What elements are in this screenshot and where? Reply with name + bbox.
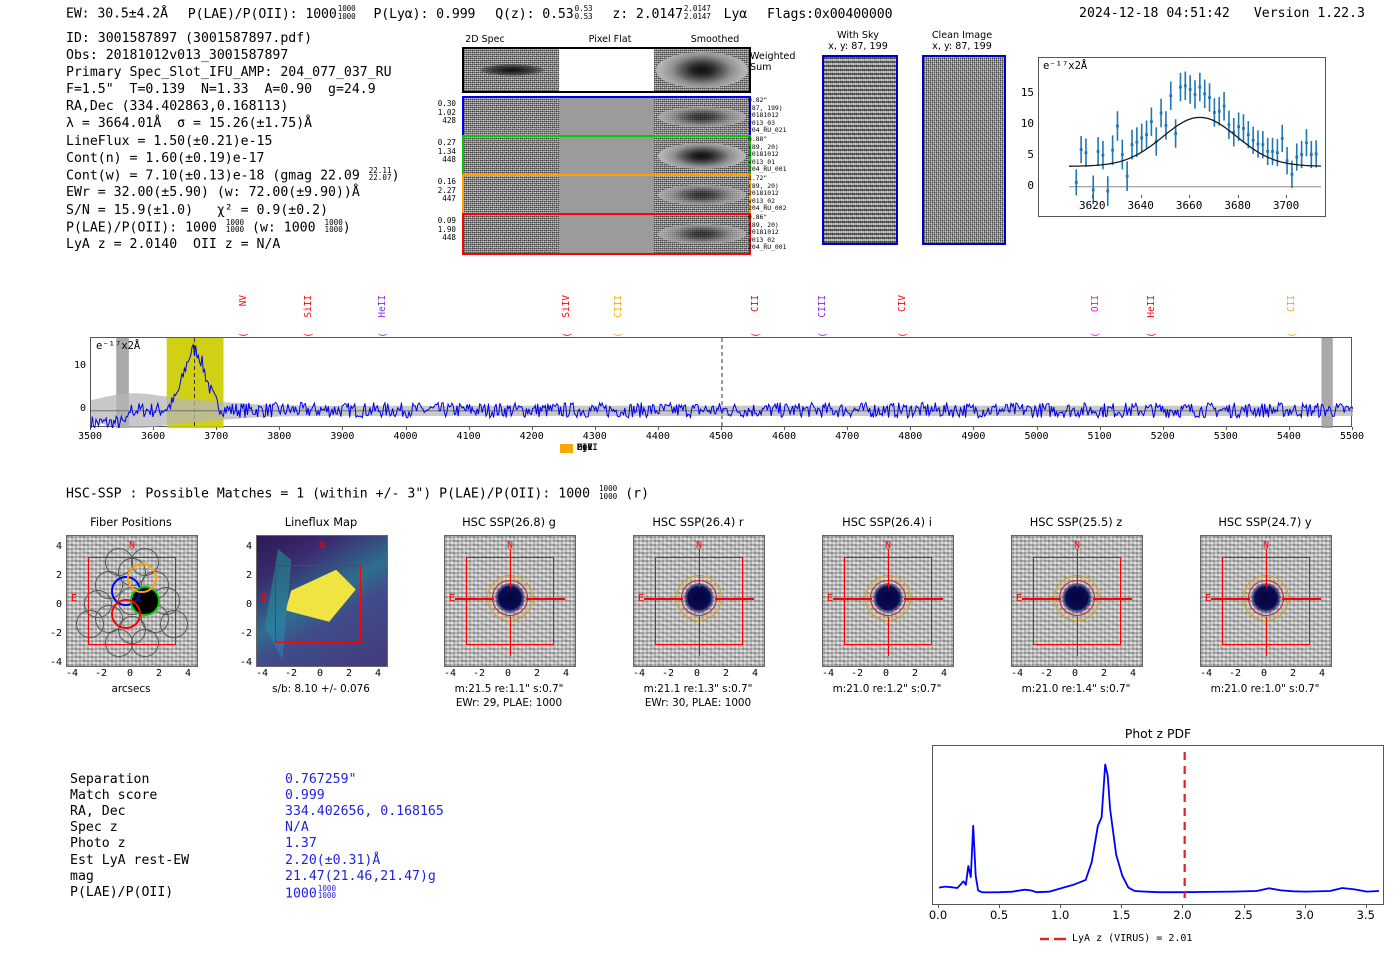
fiber-highlight-orange <box>127 563 157 593</box>
summary-key: Separation <box>70 772 149 788</box>
fiber-circle <box>105 629 133 657</box>
spectrum-xtick: 3900 <box>320 431 364 442</box>
cutout-xtick: -2 <box>654 668 682 679</box>
header-timestamp-version: 2024-12-18 04:51:42 Version 1.22.3 <box>1079 6 1365 21</box>
plae-fraction-1: 10001000 <box>226 219 244 234</box>
cutout-ytick: -4 <box>232 657 252 668</box>
compass-north: N <box>129 540 135 551</box>
crosshair-h-right <box>715 598 754 599</box>
cutout-caption-1: m:21.1 re:1.3" s:0.7" <box>633 683 763 695</box>
header-qz-fraction: 0.530.53 <box>575 5 593 20</box>
cutout-image: NE <box>633 535 765 667</box>
header-redshift: z: 2.0147 <box>612 7 683 22</box>
crosshair-v-top <box>510 549 511 588</box>
line-profile-xtick: 3620 <box>1075 199 1109 212</box>
cutout-xtick: -4 <box>248 668 276 679</box>
smoothed-blob <box>658 107 746 127</box>
spectrum-line-brace: ⏝ <box>751 326 761 336</box>
crosshair-v-bot <box>1077 617 1078 656</box>
cutout-xtick: 2 <box>901 668 929 679</box>
line-profile-xtick: 3640 <box>1124 199 1158 212</box>
ws-smoothed-image <box>654 49 749 91</box>
tick <box>532 427 533 430</box>
cutout-xtick: 4 <box>1308 668 1336 679</box>
spectrum-canvas <box>91 338 1353 428</box>
tick <box>1182 905 1183 908</box>
line-profile-ytick: 5 <box>1016 148 1034 161</box>
tick <box>1092 195 1093 198</box>
compass-east: E <box>1205 593 1211 604</box>
line-profile-xtick: 3700 <box>1269 199 1303 212</box>
compass-east: E <box>449 593 455 604</box>
cutout-ytick: 4 <box>232 541 252 552</box>
spectrum-xtick: 5400 <box>1267 431 1311 442</box>
spectrum-xtick: 4300 <box>573 431 617 442</box>
tick <box>1037 427 1038 430</box>
spectrum-line-brace: ⏝ <box>898 326 908 336</box>
spectrum-xtick: 4500 <box>699 431 743 442</box>
spectrum-xtick: 4600 <box>762 431 806 442</box>
cutout-xtick: 2 <box>145 668 173 679</box>
crosshair-v-bot <box>699 617 700 656</box>
cutout-ytick: 2 <box>42 570 62 581</box>
param-plae-poii: P(LAE)/P(OII): 1000 10001000 (w: 1000 10… <box>66 219 400 237</box>
spectrum-ytick: 0 <box>66 403 86 414</box>
crosshair-h-right <box>526 598 565 599</box>
spectrum-xtick: 4000 <box>384 431 428 442</box>
header-plae-fraction: 10001000 <box>338 5 356 20</box>
summary-value: 21.47(21.46,21.47)g <box>285 869 436 885</box>
cutout-ytick: -4 <box>42 657 62 668</box>
fiber-circle <box>160 610 188 638</box>
tick <box>1289 427 1290 430</box>
cutout-caption-2: EWr: 30, PLAE: 1000 <box>633 697 763 709</box>
header-ew: EW: 30.5±4.2Å <box>66 7 168 22</box>
fiber-right-metadata: 0.82"(87, 199)20181012v013_03204_RU_021 <box>748 97 786 135</box>
cutout-xtick: 2 <box>1279 668 1307 679</box>
header-plae: P(LAE)/P(OII): 1000 <box>188 7 337 22</box>
tick <box>1163 427 1164 430</box>
param-obs: Obs: 20181012v013_3001587897 <box>66 47 400 64</box>
fiber-circle <box>131 629 159 657</box>
tick <box>999 905 1000 908</box>
ws-2dspec-image <box>464 49 559 91</box>
cutout-xtick: 2 <box>335 668 363 679</box>
tick <box>973 427 974 430</box>
fiber-strip-row <box>462 213 751 255</box>
spectrum-line-brace: ⏝ <box>1091 326 1101 336</box>
spectrum-line-brace: ⏝ <box>818 326 828 336</box>
summary-key: Match score <box>70 788 157 804</box>
spectrum-xtick: 4800 <box>888 431 932 442</box>
cutout-caption-1: m:21.5 re:1.1" s:0.7" <box>444 683 574 695</box>
legend-label: HeII <box>577 443 598 453</box>
tick <box>658 427 659 430</box>
tick <box>1189 195 1190 198</box>
cutout-xtick: -2 <box>1032 668 1060 679</box>
fiber-left-stats: 0.162.27447 <box>396 178 456 204</box>
crosshair-h-right <box>1282 598 1321 599</box>
header-qz: Q(z): 0.53 <box>495 7 573 22</box>
legend-swatch <box>560 444 573 453</box>
spectrum-line-brace: ⏝ <box>562 326 572 336</box>
photz-legend-dash-icon <box>1040 935 1066 943</box>
weighted-sum-label: Weighted Sum <box>750 52 795 73</box>
cutout-xtick: -2 <box>465 668 493 679</box>
cutout-xtick: 4 <box>1119 668 1147 679</box>
compass-north: N <box>696 540 702 551</box>
spectrum-line-label: CII <box>1286 295 1297 312</box>
tick <box>1244 905 1245 908</box>
hsc-plae-fraction: 10001000 <box>599 485 617 500</box>
cutout-xtick: 4 <box>930 668 958 679</box>
crosshair-v-top <box>699 549 700 588</box>
cutout-image: NE <box>256 535 388 667</box>
with-sky-image <box>822 55 898 245</box>
compass-east: E <box>261 593 267 604</box>
cutout-ytick: 0 <box>42 599 62 610</box>
fiber-pixelflat-image <box>559 215 654 253</box>
crosshair-h-left <box>1022 598 1061 599</box>
fiber-pixelflat-image <box>559 176 654 214</box>
header-flags: Flags:0x00400000 <box>767 7 892 22</box>
fov-box <box>275 565 361 643</box>
summary-key: mag <box>70 869 94 885</box>
param-radec: RA,Dec (334.402863,0.168113) <box>66 98 400 115</box>
cutout-xtick: 0 <box>494 668 522 679</box>
tick <box>279 427 280 430</box>
spectrum-unit-label: e⁻¹⁷x2Å <box>96 340 140 352</box>
cutout-xtick: -2 <box>1221 668 1249 679</box>
tick <box>153 427 154 430</box>
photz-xtick: 0.0 <box>920 908 956 922</box>
cutout-image: NE <box>1200 535 1332 667</box>
line-profile-plot: e⁻¹⁷x2Å <box>1038 57 1326 217</box>
cutout-ytick: -2 <box>232 628 252 639</box>
cutout-xtick: -4 <box>436 668 464 679</box>
line-profile-xtick: 3660 <box>1172 199 1206 212</box>
cutout-xtick: 0 <box>1061 668 1089 679</box>
with-sky-header: With Sky x, y: 87, 199 <box>812 30 904 52</box>
fiber-smoothed-image <box>654 215 749 253</box>
param-continuum-wide: Cont(w) = 7.10(±0.13)e-18 (gmag 22.09 22… <box>66 167 400 185</box>
tick <box>847 427 848 430</box>
fiber-pixelflat-image <box>559 98 654 136</box>
fiber-smoothed-image <box>654 176 749 214</box>
fiber-strip-row <box>462 135 751 177</box>
cutout-image: NE <box>822 535 954 667</box>
tick <box>406 427 407 430</box>
clean-image <box>922 55 1006 245</box>
weighted-sum-strip <box>462 47 751 93</box>
fiber-2dspec-image <box>464 176 559 214</box>
crosshair-v-bot <box>1266 617 1267 656</box>
header-line-id: Lyα <box>724 7 748 22</box>
cutout-ytick: 4 <box>42 541 62 552</box>
tick <box>1141 195 1142 198</box>
spectrum-xtick: 5500 <box>1330 431 1374 442</box>
full-spectrum-plot: e⁻¹⁷x2Å <box>90 337 1352 427</box>
col-header-2dspec: 2D Spec <box>440 34 530 45</box>
fiber-strip-row <box>462 174 751 216</box>
gmag-fraction: 22.1122.07 <box>369 167 392 182</box>
fiber-smoothed-image <box>654 98 749 136</box>
summary-value: 0.767259" <box>285 772 356 788</box>
clean-image-header: Clean Image x, y: 87, 199 <box>912 30 1012 52</box>
smoothed-blob <box>658 224 746 244</box>
param-snr-chisq: S/N = 15.9(±1.0) χ² = 0.9(±0.2) <box>66 202 400 219</box>
compass-north: N <box>1074 540 1080 551</box>
col-header-pixelflat: Pixel Flat <box>565 34 655 45</box>
spectrum-xtick: 3600 <box>131 431 175 442</box>
crosshair-v-top <box>1266 549 1267 588</box>
photz-xtick: 1.0 <box>1042 908 1078 922</box>
summary-plae-fraction: 10001000 <box>318 885 336 900</box>
cutout-title: HSC SSP(26.4) r <box>633 515 763 529</box>
fiber-left-stats: 0.091.90448 <box>396 217 456 243</box>
tick <box>216 427 217 430</box>
cutout-xtick: 2 <box>523 668 551 679</box>
parameter-block: ID: 3001587897 (3001587897.pdf) Obs: 201… <box>66 30 400 253</box>
spectrum-line-brace: ⏝ <box>1147 326 1157 336</box>
crosshair-h-left <box>1211 598 1250 599</box>
cutout-xtick: -2 <box>87 668 115 679</box>
summary-value: 2.20(±0.31)Å <box>285 853 380 869</box>
cutout-xtick: 0 <box>683 668 711 679</box>
crosshair-h-left <box>455 598 494 599</box>
cutout-xtick: 4 <box>174 668 202 679</box>
spectrum-line-brace: ⏝ <box>239 326 249 336</box>
line-profile-ytick: 0 <box>1016 179 1034 192</box>
fiber-2dspec-image <box>464 98 559 136</box>
tick <box>1305 905 1306 908</box>
cutout-xtick: -4 <box>1192 668 1220 679</box>
cutout-xtick: 2 <box>712 668 740 679</box>
cutout-xtick: -2 <box>843 668 871 679</box>
tick <box>784 427 785 430</box>
fiber-right-metadata: 0.86"(89, 20)20181012v013_02204_RU_001 <box>748 214 786 252</box>
param-lambda-sigma: λ = 3664.01Å σ = 15.26(±1.75)Å <box>66 115 400 132</box>
cutout-xtick: -4 <box>814 668 842 679</box>
spectrum-line-label: CIII <box>613 295 624 318</box>
spectrum-xtick: 3500 <box>68 431 112 442</box>
cutout-xtick: -2 <box>277 668 305 679</box>
crosshair-v-bot <box>888 617 889 656</box>
smoothed-blob <box>658 185 746 205</box>
line-profile-ytick: 15 <box>1016 86 1034 99</box>
cutout-xtick: 4 <box>552 668 580 679</box>
fiber-circle <box>76 610 104 638</box>
summary-value: N/A <box>285 820 309 836</box>
tick <box>910 427 911 430</box>
version: Version 1.22.3 <box>1254 6 1365 21</box>
fiber-2dspec-image <box>464 137 559 175</box>
tick <box>1286 195 1287 198</box>
summary-key: Spec z <box>70 820 118 836</box>
spectrum-xtick: 5100 <box>1078 431 1122 442</box>
compass-north: N <box>1263 540 1269 551</box>
tick <box>342 427 343 430</box>
spectrum-xtick: 4100 <box>447 431 491 442</box>
cutout-xtick: 0 <box>116 668 144 679</box>
cutout-title: HSC SSP(26.4) i <box>822 515 952 529</box>
summary-key: Photo z <box>70 836 126 852</box>
cutout-caption-1: m:21.0 re:1.2" s:0.7" <box>822 683 952 695</box>
crosshair-h-left <box>833 598 872 599</box>
fiber-smoothed-image <box>654 137 749 175</box>
crosshair-v-top <box>1077 549 1078 588</box>
summary-value: 334.402656, 0.168165 <box>285 804 444 820</box>
cutout-ytick: -2 <box>42 628 62 639</box>
cutout-xtick: -4 <box>1003 668 1031 679</box>
spectrum-xtick: 4900 <box>951 431 995 442</box>
cutout-image: NE <box>1011 535 1143 667</box>
cutout-title: HSC SSP(24.7) y <box>1200 515 1330 529</box>
compass-north: N <box>319 540 325 551</box>
spectrum-line-label: SiIV <box>561 295 572 318</box>
tick <box>938 905 939 908</box>
spectrum-line-label: HeII <box>377 295 388 318</box>
cutout-caption-1: m:21.0 re:1.0" s:0.7" <box>1200 683 1330 695</box>
param-redshifts: LyA z = 2.0140 OII z = N/A <box>66 236 400 253</box>
hsc-headline: HSC-SSP : Possible Matches = 1 (within +… <box>66 485 649 502</box>
crosshair-h-left <box>644 598 683 599</box>
tick <box>1366 905 1367 908</box>
cutout-ytick: 0 <box>232 599 252 610</box>
tick <box>1100 427 1101 430</box>
spectrum-xtick: 4200 <box>510 431 554 442</box>
spectrum-line-label: NV <box>238 295 249 306</box>
tick <box>1121 905 1122 908</box>
cutout-xtick: 4 <box>741 668 769 679</box>
spectrum-line-label: CIV <box>897 295 908 312</box>
cutout-xtick: 4 <box>364 668 392 679</box>
photz-xtick: 0.5 <box>981 908 1017 922</box>
cutout-xtick: -4 <box>625 668 653 679</box>
spectrum-line-brace: ⏝ <box>1287 326 1297 336</box>
spectrum-xtick: 4700 <box>825 431 869 442</box>
param-lineflux: LineFlux = 1.50(±0.21)e-15 <box>66 133 400 150</box>
fiber-strip-row <box>462 96 751 138</box>
spectrum-xtick: 5000 <box>1015 431 1059 442</box>
cutout-caption-1: s/b: 8.10 +/- 0.076 <box>256 683 386 695</box>
summary-value: 100010001000 <box>285 885 336 903</box>
param-ewr: EWr = 32.00(±5.90) (w: 72.00(±9.90))Å <box>66 184 400 201</box>
compass-east: E <box>71 593 77 604</box>
tick <box>1060 905 1061 908</box>
param-continuum-narrow: Cont(n) = 1.60(±0.19)e-17 <box>66 150 400 167</box>
compass-east: E <box>827 593 833 604</box>
cutout-xtick: 2 <box>1090 668 1118 679</box>
param-primary-slot: Primary Spec_Slot_IFU_AMP: 204_077_037_R… <box>66 64 400 81</box>
tick <box>1226 427 1227 430</box>
cutout-caption-2: EWr: 29, PLAE: 1000 <box>444 697 574 709</box>
photz-xtick: 3.0 <box>1287 908 1323 922</box>
spectrum-xtick: 5200 <box>1141 431 1185 442</box>
summary-key: RA, Dec <box>70 804 126 820</box>
spectrum-line-label: SiII <box>303 295 314 318</box>
fiber-right-metadata: 1.72"(89, 20)20181012v013_02204_RU_002 <box>748 175 786 213</box>
tick <box>90 427 91 430</box>
fiber-2dspec-image <box>464 215 559 253</box>
spectrum-line-label: OII <box>1090 295 1101 312</box>
line-profile-xtick: 3680 <box>1221 199 1255 212</box>
spectrum-line-brace: ⏝ <box>304 326 314 336</box>
fiber-left-stats: 0.271.34448 <box>396 139 456 165</box>
compass-north: N <box>885 540 891 551</box>
summary-value: 1.37 <box>285 836 317 852</box>
spectrum-xtick: 3700 <box>194 431 238 442</box>
spectrum-line-label: CII <box>750 295 761 312</box>
fiber-pixelflat-image <box>559 137 654 175</box>
cutout-title: Lineflux Map <box>256 515 386 529</box>
line-profile-canvas <box>1039 58 1327 218</box>
cutout-title: HSC SSP(25.5) z <box>1011 515 1141 529</box>
header-summary-line: EW: 30.5±4.2Å P(LAE)/P(OII): 10001000100… <box>66 5 892 22</box>
cutout-ytick: 2 <box>232 570 252 581</box>
photz-xtick: 3.5 <box>1348 908 1384 922</box>
compass-east: E <box>1016 593 1022 604</box>
cutout-image: NE <box>66 535 198 667</box>
photz-title: Phot z PDF <box>932 726 1384 741</box>
photz-xtick: 2.5 <box>1226 908 1262 922</box>
cutout-title: Fiber Positions <box>66 515 196 529</box>
cutout-xtick: 0 <box>872 668 900 679</box>
summary-value: 0.999 <box>285 788 325 804</box>
crosshair-h-right <box>1093 598 1132 599</box>
param-id: ID: 3001587897 (3001587897.pdf) <box>66 30 400 47</box>
spectrum-line-label: CIII <box>817 295 828 318</box>
photz-legend-label: LyA z (VIRUS) = 2.01 <box>1072 933 1192 944</box>
summary-key: Est LyA rest-EW <box>70 853 189 869</box>
cutout-xtick: 0 <box>306 668 334 679</box>
header-redshift-fraction: 2.01472.0147 <box>684 5 711 20</box>
tick <box>721 427 722 430</box>
compass-north: N <box>507 540 513 551</box>
spectrum-xtick: 5300 <box>1204 431 1248 442</box>
spectrum-xtick: 3800 <box>257 431 301 442</box>
cutout-xtick: -4 <box>58 668 86 679</box>
col-header-smoothed: Smoothed <box>670 34 760 45</box>
spectrum-line-label: HeII <box>1146 295 1157 318</box>
spectrum-legend-item: HeII <box>560 443 598 453</box>
cutout-caption-1: arcsecs <box>66 683 196 695</box>
crosshair-v-top <box>888 549 889 588</box>
timestamp: 2024-12-18 04:51:42 <box>1079 6 1230 21</box>
plae-fraction-2: 10001000 <box>325 219 343 234</box>
spectrum-xtick: 4400 <box>636 431 680 442</box>
crosshair-v-bot <box>510 617 511 656</box>
photz-xtick: 1.5 <box>1103 908 1139 922</box>
ws-pixelflat-image <box>559 49 654 91</box>
photz-xtick: 2.0 <box>1164 908 1200 922</box>
line-profile-ytick: 10 <box>1016 117 1034 130</box>
fiber-left-stats: 0.301.02428 <box>396 100 456 126</box>
spectrum-ytick: 10 <box>66 360 86 371</box>
cutout-xtick: 0 <box>1250 668 1278 679</box>
cutout-image: NE <box>444 535 576 667</box>
header-plya: P(Lyα): 0.999 <box>373 7 475 22</box>
photz-canvas <box>933 746 1385 906</box>
spectrum-line-brace: ⏝ <box>614 326 624 336</box>
smoothed-blob <box>658 143 746 169</box>
tick <box>1352 427 1353 430</box>
photz-pdf-plot <box>932 745 1384 905</box>
fiber-highlight-red <box>111 599 141 629</box>
spectrum-line-brace: ⏝ <box>378 326 388 336</box>
photz-legend: LyA z (VIRUS) = 2.01 <box>1040 933 1192 944</box>
cutout-title: HSC SSP(26.8) g <box>444 515 574 529</box>
